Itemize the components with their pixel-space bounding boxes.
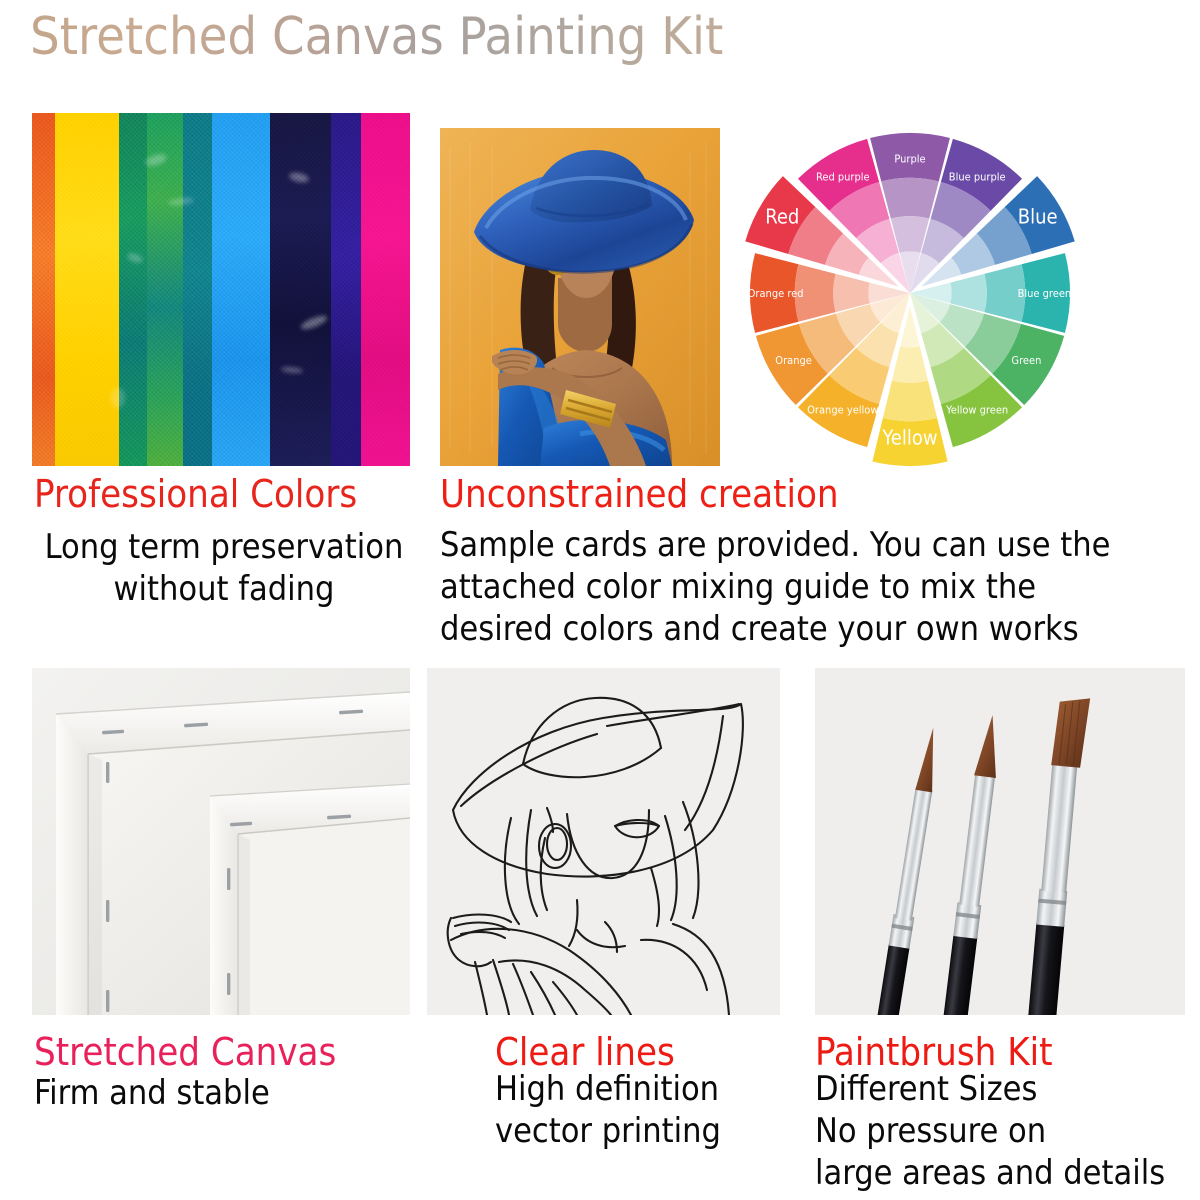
body-professional-colors: Long term preservation without fading bbox=[34, 526, 414, 610]
body-unconstrained-creation: Sample cards are provided. You can use t… bbox=[440, 524, 1140, 650]
wheel-segment-yellow-ring-mid bbox=[883, 381, 937, 422]
body-line: Different Sizes bbox=[815, 1068, 1165, 1110]
lady-in-blue-hat-painting bbox=[440, 128, 720, 466]
color-wheel-chart: PurpleBlue purpleBlueBlue greenGreenYell… bbox=[735, 118, 1085, 468]
body-line: High definition bbox=[495, 1068, 721, 1110]
wheel-label-blue-purple: Blue purple bbox=[949, 171, 1006, 184]
line-art-outline bbox=[427, 668, 780, 1015]
infographic-page: Stretched Canvas Painting Kit bbox=[0, 0, 1200, 1200]
body-line: Sample cards are provided. You can use t… bbox=[440, 524, 1140, 566]
heading-unconstrained-creation: Unconstrained creation bbox=[440, 472, 839, 516]
paint-stripes-photo bbox=[32, 113, 410, 466]
wheel-label-yellow: Yellow bbox=[881, 425, 937, 449]
body-paintbrush-kit: Different Sizes No pressure on large are… bbox=[815, 1068, 1165, 1194]
heading-professional-colors: Professional Colors bbox=[34, 472, 357, 516]
body-clear-lines: High definition vector printing bbox=[495, 1068, 721, 1152]
wheel-label-green: Green bbox=[1011, 354, 1041, 367]
wheel-label-purple: Purple bbox=[894, 153, 925, 166]
wheel-label-orange-yellow: Orange yellow bbox=[807, 403, 878, 416]
wheel-label-yellow-green: Yellow green bbox=[945, 403, 1008, 416]
three-paintbrushes-photo bbox=[815, 668, 1185, 1015]
body-line: attached color mixing guide to mix the bbox=[440, 566, 1140, 608]
wheel-segment-purple-ring-mid bbox=[881, 178, 938, 219]
body-line: Long term preservation bbox=[34, 526, 414, 568]
white-canvas-frames-photo bbox=[32, 668, 410, 1015]
body-line: vector printing bbox=[495, 1110, 721, 1152]
body-stretched-canvas: Firm and stable bbox=[34, 1072, 270, 1114]
wheel-segment-yellow-ring-inner bbox=[892, 346, 928, 382]
body-line: desired colors and create your own works bbox=[440, 608, 1140, 650]
wheel-label-red-purple: Red purple bbox=[816, 171, 870, 184]
wheel-label-orange: Orange bbox=[775, 354, 812, 367]
wheel-label-blue-green: Blue green bbox=[1018, 287, 1072, 300]
body-line: Firm and stable bbox=[34, 1072, 270, 1114]
wheel-label-red: Red bbox=[765, 204, 799, 228]
page-title: Stretched Canvas Painting Kit bbox=[30, 6, 723, 68]
body-line: without fading bbox=[34, 568, 414, 610]
heading-stretched-canvas: Stretched Canvas bbox=[34, 1030, 336, 1074]
body-line: large areas and details bbox=[815, 1152, 1165, 1194]
wheel-label-blue: Blue bbox=[1018, 204, 1058, 228]
wheel-label-orange-red: Orange red bbox=[748, 287, 804, 300]
body-line: No pressure on bbox=[815, 1110, 1165, 1152]
